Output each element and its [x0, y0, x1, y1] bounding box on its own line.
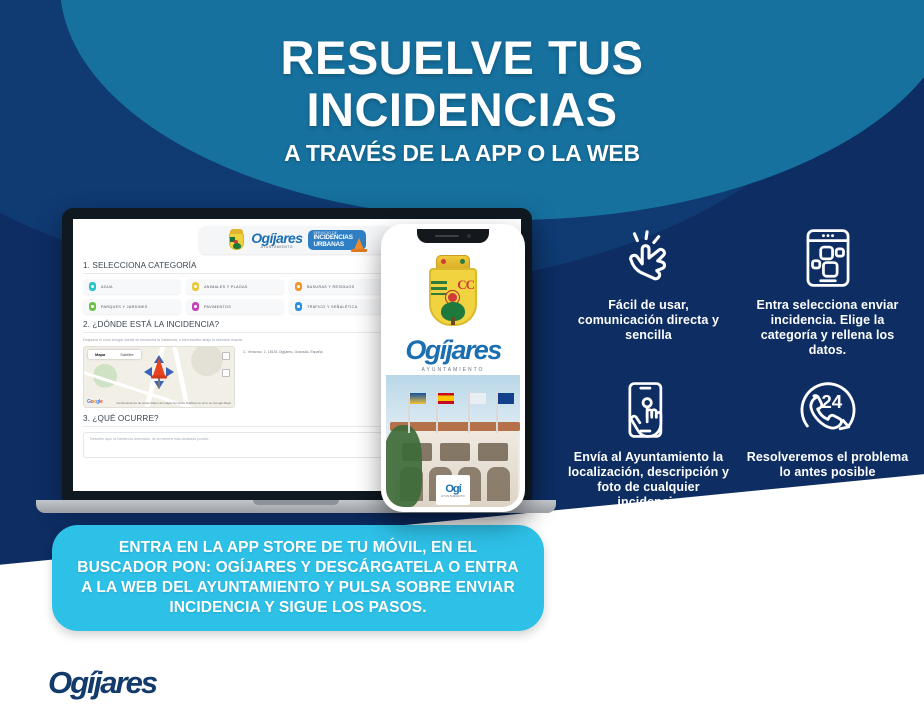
poster-headline: RESUELVE TUS INCIDENCIAS A TRAVÉS DE LA … [0, 32, 924, 167]
overlay-badge-text: AYUNTAMIENTO [441, 495, 465, 498]
phone-notch [417, 229, 489, 243]
traffic-cone-icon [353, 238, 365, 252]
overlay-badge-mark: Ogí [445, 483, 460, 495]
category-chip-agua[interactable]: AGUA [83, 279, 181, 294]
footer-logo: Ogíjares [48, 667, 156, 698]
flag-europa [496, 391, 498, 433]
map-type-tabs[interactable]: Mapa Satélite [88, 350, 141, 359]
phone-24h-icon: 24 [745, 374, 910, 446]
speaker-icon [435, 235, 459, 238]
phone-brand-logo: Ogíjares AYUNTAMIENTO [386, 337, 520, 373]
map-cone-marker[interactable] [151, 358, 167, 389]
map-tab-mapa[interactable]: Mapa [88, 350, 112, 359]
feature-text: Resolveremos el problema lo antes posibl… [745, 450, 910, 480]
feature-text: Envía al Ayuntamiento la localización, d… [566, 450, 731, 510]
phone-brand-name: Ogíjares [386, 337, 520, 364]
webapp-brand-name: Ogíjares [251, 231, 302, 245]
webapp-brand-logo: Ogíjares AYUNTAMIENTO [251, 231, 302, 249]
badge-line-2: URBANAS [313, 242, 352, 249]
photo-overlay-badge: Ogí AYUNTAMIENTO [436, 475, 470, 505]
headline-line-1: RESUELVE TUS [0, 32, 924, 84]
flag-espana [436, 391, 438, 433]
pin-icon [295, 302, 302, 311]
map-tab-satelite[interactable]: Satélite [113, 350, 140, 359]
webapp-brand-subtitle: AYUNTAMIENTO [251, 246, 302, 249]
category-chip-animales-y-plagas[interactable]: ANIMALES Y PLAGAS [186, 279, 284, 294]
map-locate-button[interactable] [222, 369, 230, 377]
headline-line-2: INCIDENCIAS [0, 84, 924, 136]
category-chip-basuras-y-residuos[interactable]: BASURAS Y RESIDUOS [289, 279, 387, 294]
footer-logo-text: Ogíjares [48, 667, 156, 698]
feature-text: Entra selecciona enviar incidencia. Elig… [745, 298, 910, 358]
webapp-header-bar: Ogíjares AYUNTAMIENTO SERVICIO DE INCIDE… [199, 226, 395, 254]
pin-icon [89, 302, 96, 311]
coat-of-arms-large-icon: CC [424, 255, 482, 329]
location-map[interactable]: Mapa Satélite [83, 346, 235, 408]
headline-subtitle: A TRAVÉS DE LA APP O LA WEB [0, 140, 924, 167]
feature-entra-selecciona: Entra selecciona enviar incidencia. Elig… [745, 222, 910, 358]
phone-touch-icon [566, 374, 731, 446]
flag-andalucia [408, 391, 410, 433]
category-label: PARQUES Y JARDINES [101, 305, 148, 309]
category-label: PAVIMENTOS [204, 305, 231, 309]
cta-text: ENTRA EN LA APP STORE DE TU MÓVIL, EN EL… [74, 538, 522, 618]
category-chip-pavimentos[interactable]: PAVIMENTOS [186, 299, 284, 314]
camera-icon [467, 234, 471, 238]
pin-icon [192, 282, 199, 291]
pin-icon [192, 302, 199, 311]
category-label: BASURAS Y RESIDUOS [307, 285, 355, 289]
category-chip-parques-y-jardines[interactable]: PARQUES Y JARDINES [83, 299, 181, 314]
town-hall-photo: Ogí AYUNTAMIENTO [386, 375, 520, 507]
incidencias-urbanas-badge: SERVICIO DE INCIDENCIAS URBANAS [308, 230, 365, 251]
category-chip-trafico-y-senaletica[interactable]: TRÁFICO Y SEÑALÉTICA [289, 299, 387, 314]
category-label: TRÁFICO Y SEÑALÉTICA [307, 305, 358, 309]
map-attribution: Combinaciones de teclas Datos del mapa T… [116, 401, 231, 405]
cta-banner: ENTRA EN LA APP STORE DE TU MÓVIL, EN EL… [52, 525, 544, 631]
map-fullscreen-button[interactable] [222, 352, 230, 360]
phone-screen: CC Ogíjares AYUNTAMIENTO [386, 229, 520, 507]
category-label: AGUA [101, 285, 113, 289]
category-label: ANIMALES Y PLAGAS [204, 285, 248, 289]
mobile-app-grid-icon [745, 222, 910, 294]
poster-root: RESUELVE TUS INCIDENCIAS A TRAVÉS DE LA … [0, 0, 924, 720]
phone-splash: CC Ogíjares AYUNTAMIENTO [386, 229, 520, 373]
coat-of-arms-icon [228, 229, 245, 251]
google-logo: Google [87, 399, 102, 405]
phone-brand-subtitle: AYUNTAMIENTO [386, 367, 520, 373]
flag-blanca [468, 391, 470, 433]
tap-hand-icon [566, 222, 731, 294]
photo-tree [386, 425, 422, 507]
phone-mockup: CC Ogíjares AYUNTAMIENTO [381, 224, 525, 512]
feature-text: Fácil de usar, comunicación directa y se… [566, 298, 731, 343]
feature-resolveremos: 24 Resolveremos el problema lo antes pos… [745, 374, 910, 510]
svg-text:24: 24 [821, 391, 842, 412]
feature-envia-al-ayuntamiento: Envía al Ayuntamiento la localización, d… [566, 374, 731, 510]
pin-icon [295, 282, 302, 291]
google-letter: e [100, 399, 102, 405]
feature-grid: Fácil de usar, comunicación directa y se… [566, 222, 910, 510]
feature-facil-de-usar: Fácil de usar, comunicación directa y se… [566, 222, 731, 358]
pin-icon [89, 282, 96, 291]
address-value: C. Veracruz, 2, 18151 Ogíjares, Granada,… [243, 346, 323, 354]
